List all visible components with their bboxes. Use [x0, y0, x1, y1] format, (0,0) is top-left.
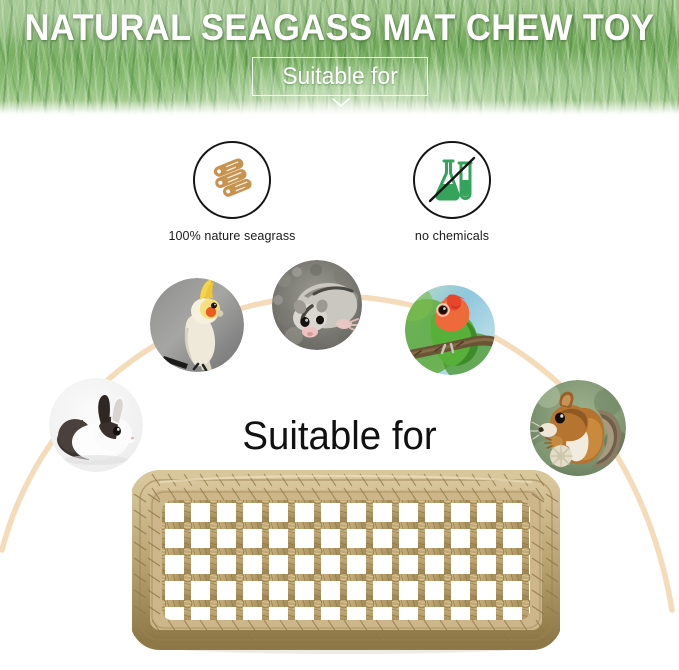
animal-circle-lovebird	[405, 285, 495, 375]
feature-seagrass-label: 100% nature seagrass	[152, 229, 312, 243]
animal-circle-sugar-glider	[272, 260, 362, 350]
feature-no-chemicals-badge	[413, 141, 491, 219]
feature-seagrass-badge	[193, 141, 271, 219]
center-headline: Suitable for	[14, 412, 666, 460]
feature-no-chemicals-label: no chemicals	[372, 229, 532, 243]
chevron-down-icon	[332, 98, 350, 108]
logs-icon	[207, 158, 257, 202]
product-marketing-image: NATURAL SEAGASS MAT CHEW TOY Suitable fo…	[0, 0, 679, 670]
product-photo-seagrass-mat	[132, 470, 560, 655]
sugar-glider-photo	[272, 260, 362, 350]
banner-title: NATURAL SEAGASS MAT CHEW TOY	[24, 6, 655, 50]
feature-seagrass: 100% nature seagrass	[152, 141, 312, 243]
cockatiel-photo	[150, 278, 244, 372]
banner-subtitle: Suitable for	[256, 57, 423, 96]
no-chemicals-icon	[426, 156, 478, 204]
header-banner: NATURAL SEAGASS MAT CHEW TOY Suitable fo…	[0, 0, 679, 116]
animal-circle-cockatiel	[150, 278, 244, 372]
lovebird-photo	[405, 285, 495, 375]
feature-no-chemicals: no chemicals	[372, 141, 532, 243]
